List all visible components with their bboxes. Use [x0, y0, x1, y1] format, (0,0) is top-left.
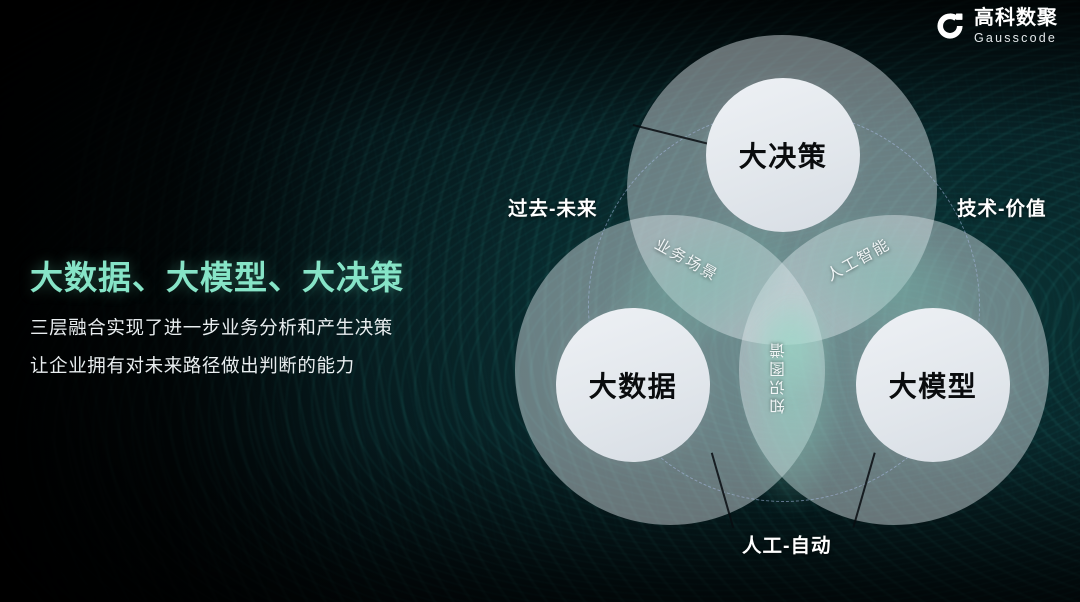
venn-core-decision[interactable]: 大决策 — [706, 78, 860, 232]
brand-name-cn: 高科数聚 — [974, 8, 1058, 28]
axis-label-past-future: 过去-未来 — [508, 192, 598, 221]
venn-overlap-label-knowledge-graph: 知识图谱 — [768, 340, 790, 414]
brand-logo-text: 高科数聚 Gausscode — [974, 8, 1058, 45]
venn-core-label-bigdata: 大数据 — [589, 365, 678, 405]
venn-core-label-decision: 大决策 — [739, 135, 828, 175]
page-title: 大数据、大模型、大决策 — [30, 258, 490, 298]
brand-logo: 高科数聚 Gausscode — [935, 8, 1058, 45]
venn-core-bigdata[interactable]: 大数据 — [556, 308, 710, 462]
subtitle-line-2: 让企业拥有对未来路径做出判断的能力 — [30, 352, 490, 380]
slide-canvas: 高科数聚 Gausscode 大数据、大模型、大决策 三层融合实现了进一步业务分… — [0, 0, 1080, 602]
gausscode-g-logo-icon — [935, 11, 965, 41]
axis-label-tech-value: 技术-价值 — [957, 192, 1047, 221]
venn-core-bigmodel[interactable]: 大模型 — [856, 308, 1010, 462]
venn-core-label-bigmodel: 大模型 — [889, 365, 978, 405]
axis-label-manual-auto: 人工-自动 — [742, 529, 832, 558]
subtitle-line-1: 三层融合实现了进一步业务分析和产生决策 — [30, 314, 490, 342]
brand-name-en: Gausscode — [974, 32, 1058, 45]
left-text-panel: 大数据、大模型、大决策 三层融合实现了进一步业务分析和产生决策 让企业拥有对未来… — [30, 258, 490, 390]
